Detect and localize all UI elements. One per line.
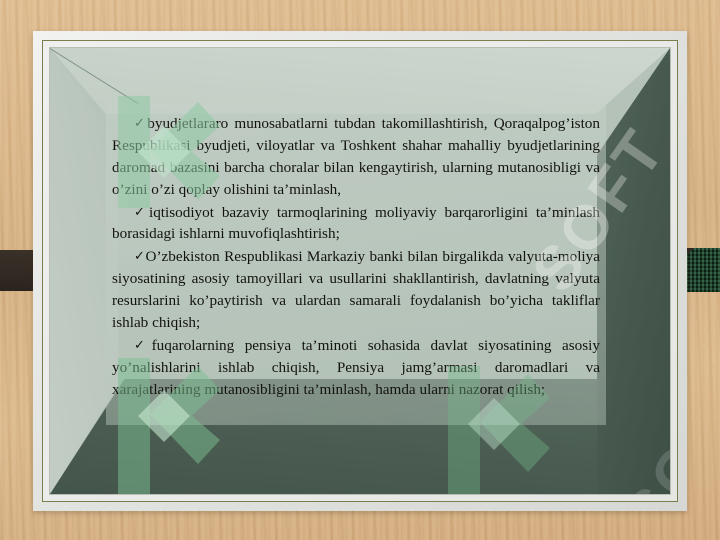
checkmark-bullet-icon: ✓ <box>134 338 152 353</box>
checkmark-bullet-icon: ✓ <box>134 116 147 131</box>
picture-frame-inner-liner: SOFT <box>49 47 671 495</box>
bullet-item: ✓iqtisodiyot bazaviy tarmoqlarining moli… <box>112 202 600 246</box>
checkmark-bullet-icon: ✓ <box>134 249 145 264</box>
picture-frame-liner: SOFT <box>42 40 678 502</box>
picture-frame: SOFT <box>33 31 687 511</box>
slide-body-text: ✓byudjetlararo munosabatlarni tubdan tak… <box>112 113 600 401</box>
bullet-item: ✓O’zbekiston Respublikasi Markaziy banki… <box>112 246 600 334</box>
bullet-text: fuqarolarning pensiya ta’minoti sohasida… <box>112 337 600 398</box>
slide-text-panel: ✓byudjetlararo munosabatlarni tubdan tak… <box>106 103 606 425</box>
bullet-text: iqtisodiyot bazaviy tarmoqlarining moliy… <box>112 204 600 243</box>
presentation-slide: SOFT <box>0 0 720 540</box>
bullet-item: ✓byudjetlararo munosabatlarni tubdan tak… <box>112 113 600 201</box>
bullet-text: O’zbekiston Respublikasi Markaziy banki … <box>112 248 600 331</box>
checkmark-bullet-icon: ✓ <box>134 205 149 220</box>
bullet-text: byudjetlararo munosabatlarni tubdan tako… <box>112 115 600 198</box>
bullet-item: ✓fuqarolarning pensiya ta’minoti sohasid… <box>112 335 600 401</box>
